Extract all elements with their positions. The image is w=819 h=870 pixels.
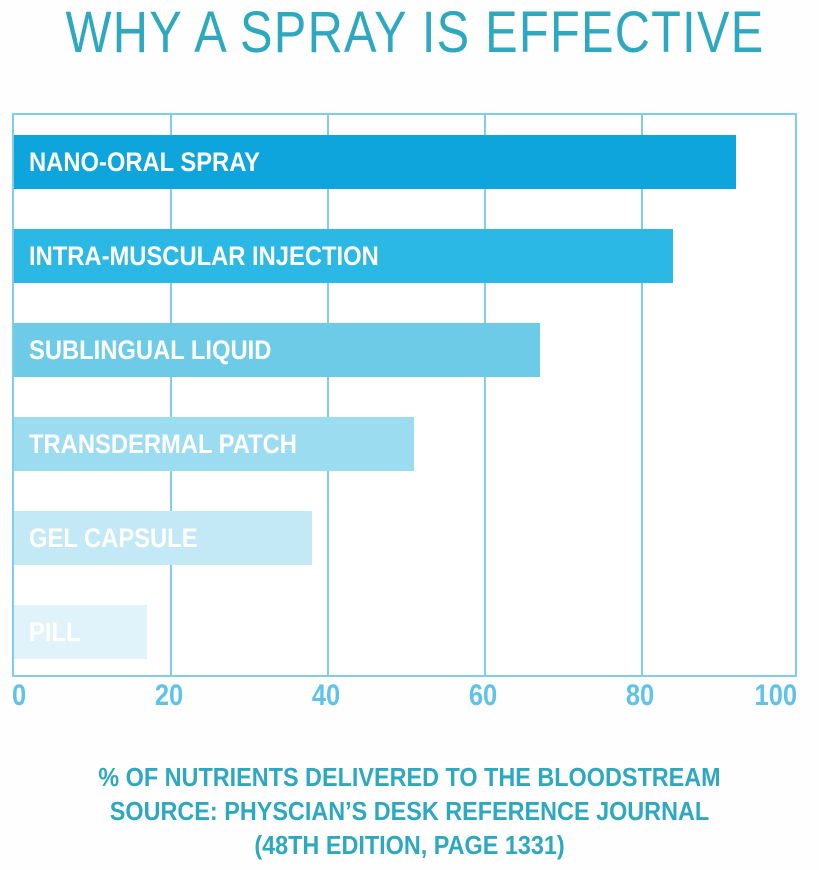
bar-intra-muscular-injection[interactable]: INTRA-MUSCULAR INJECTION: [14, 229, 673, 283]
x-tick-label-60: 60: [469, 679, 497, 713]
plot-area: NANO-ORAL SPRAYINTRA-MUSCULAR INJECTIONS…: [12, 113, 797, 677]
bar-gel-capsule[interactable]: GEL CAPSULE: [14, 511, 312, 565]
caption-line-2: SOURCE: PHYSCIAN’S DESK REFERENCE JOURNA…: [41, 794, 778, 828]
bar-transdermal-patch[interactable]: TRANSDERMAL PATCH: [14, 417, 414, 471]
chart-page: WHY A SPRAY IS EFFECTIVE NANO-ORAL SPRAY…: [0, 0, 819, 870]
bar-row: INTRA-MUSCULAR INJECTION: [14, 229, 795, 283]
caption-line-3: (48TH EDITION, PAGE 1331): [41, 828, 778, 862]
bar-label: GEL CAPSULE: [29, 525, 198, 552]
bar-nano-oral-spray[interactable]: NANO-ORAL SPRAY: [14, 135, 736, 189]
bar-row: NANO-ORAL SPRAY: [14, 135, 795, 189]
x-tick-label-40: 40: [312, 679, 340, 713]
x-tick-label-100: 100: [754, 679, 797, 713]
bar-label: SUBLINGUAL LIQUID: [29, 337, 271, 364]
chart-caption: % OF NUTRIENTS DELIVERED TO THE BLOODSTR…: [0, 760, 819, 862]
bar-label: INTRA-MUSCULAR INJECTION: [29, 243, 379, 270]
bar-label: NANO-ORAL SPRAY: [29, 149, 260, 176]
bar-sublingual-liquid[interactable]: SUBLINGUAL LIQUID: [14, 323, 540, 377]
x-axis: 020406080100: [12, 679, 797, 719]
caption-line-1: % OF NUTRIENTS DELIVERED TO THE BLOODSTR…: [41, 760, 778, 794]
bar-pill[interactable]: PILL: [14, 605, 147, 659]
bar-row: PILL: [14, 605, 795, 659]
bar-label: TRANSDERMAL PATCH: [29, 431, 297, 458]
bar-row: TRANSDERMAL PATCH: [14, 417, 795, 471]
page-title: WHY A SPRAY IS EFFECTIVE: [66, 2, 754, 64]
x-tick-label-0: 0: [12, 679, 26, 713]
bar-row: SUBLINGUAL LIQUID: [14, 323, 795, 377]
x-tick-label-80: 80: [626, 679, 654, 713]
bar-label: PILL: [29, 619, 80, 646]
bar-row: GEL CAPSULE: [14, 511, 795, 565]
bar-series: NANO-ORAL SPRAYINTRA-MUSCULAR INJECTIONS…: [14, 115, 795, 675]
x-tick-label-20: 20: [155, 679, 183, 713]
